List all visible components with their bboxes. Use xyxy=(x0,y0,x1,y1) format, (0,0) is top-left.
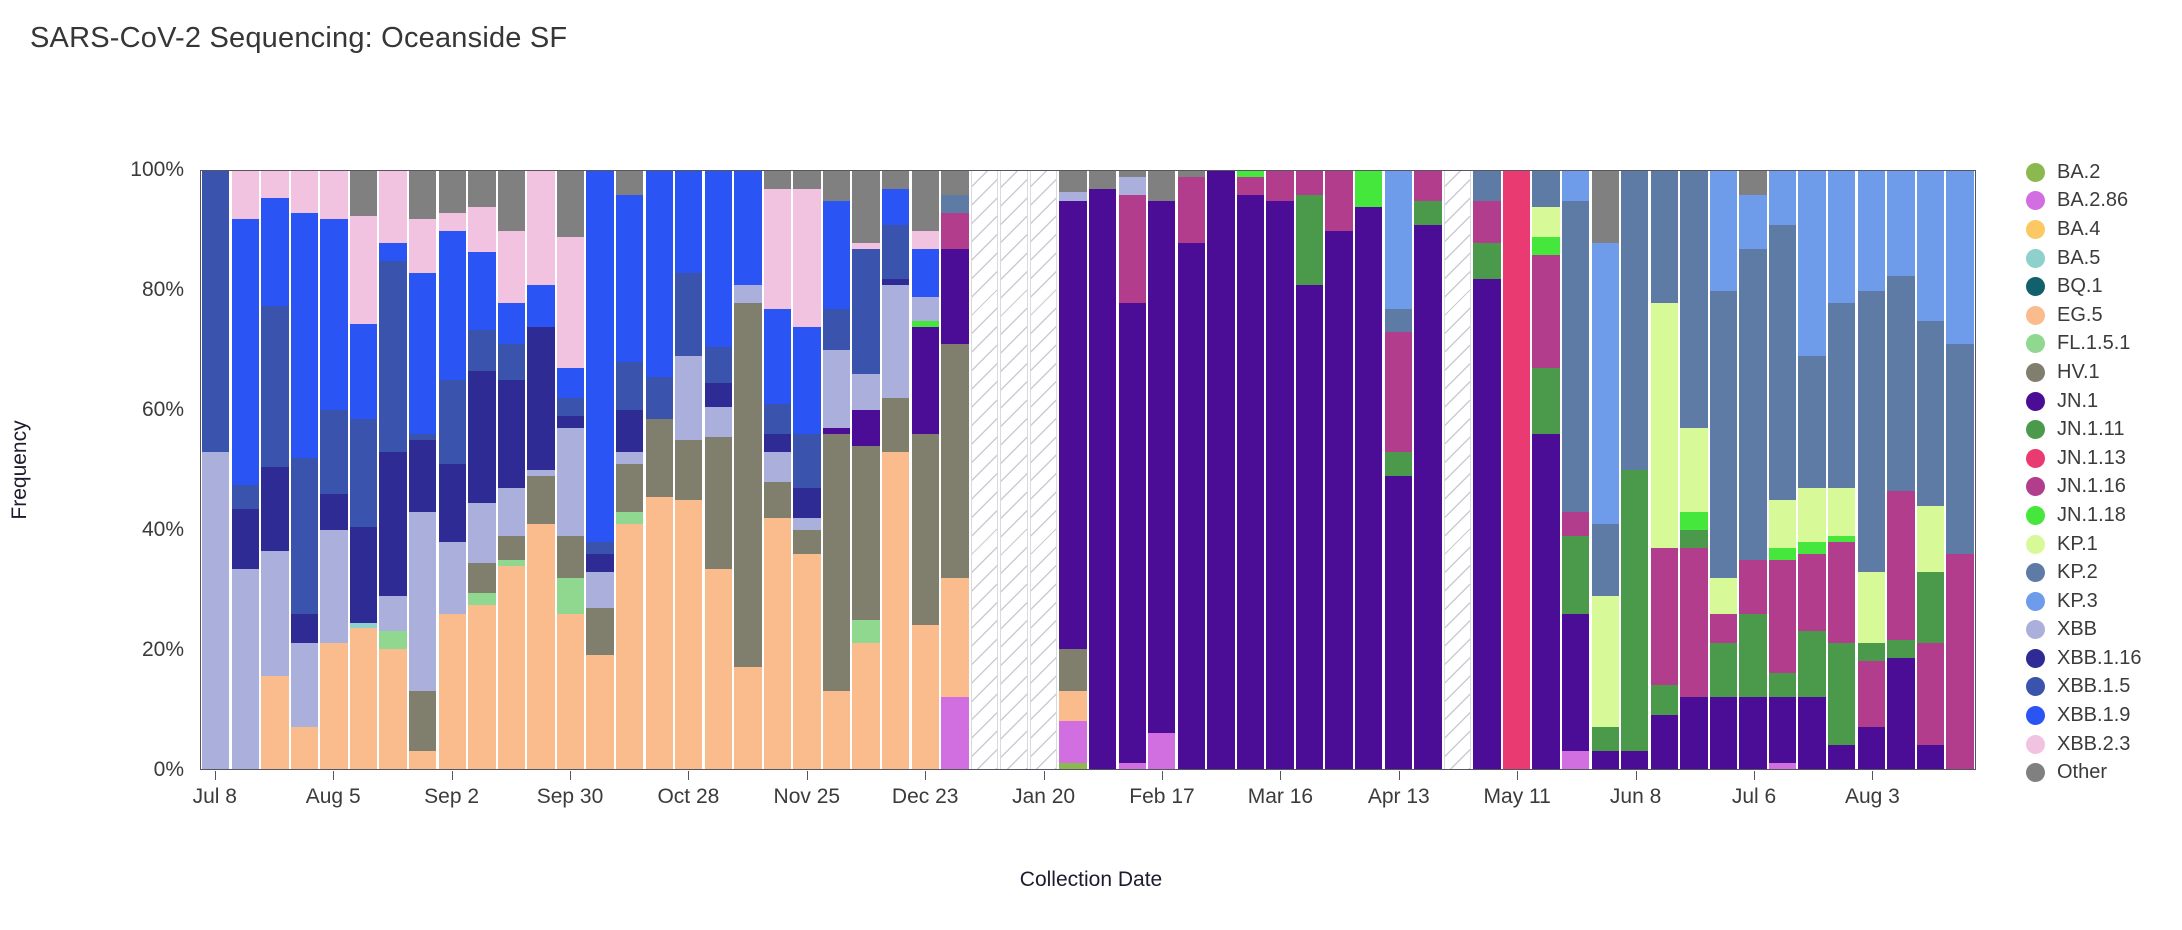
bar-segment-kp-2 xyxy=(1651,171,1678,303)
bar-segment-xbb-1-9 xyxy=(320,219,347,410)
bar-segment-kp-2 xyxy=(1680,171,1707,428)
bar-segment-kp-2 xyxy=(1532,171,1559,207)
bar-jun-22[interactable] xyxy=(1680,171,1707,769)
bar-segment-xbb-1-16 xyxy=(793,488,820,518)
legend-item-jn-1[interactable]: JN.1 xyxy=(2026,387,2182,416)
bar-segment-kp-1 xyxy=(1858,572,1885,644)
bar-segment-kp-2 xyxy=(1769,225,1796,500)
legend-item-xbb[interactable]: XBB xyxy=(2026,616,2182,645)
bar-segment-other xyxy=(764,171,791,189)
bar-segment-xbb-1-9 xyxy=(409,273,436,434)
bar-segment-other xyxy=(409,171,436,219)
bar-segment-xbb-1-5 xyxy=(705,347,732,383)
bar-segment-kp-3 xyxy=(1858,171,1885,291)
bar-feb-10[interactable] xyxy=(1119,171,1146,769)
bar-segment-xbb-1-5 xyxy=(882,225,909,279)
bar-apr-20[interactable] xyxy=(1414,171,1441,769)
missing-data-hatch xyxy=(1444,171,1471,769)
bar-segment-eg-5 xyxy=(912,625,939,769)
bar-segment-hv-1 xyxy=(882,398,909,452)
bar-segment-eg-5 xyxy=(409,751,436,769)
bar-segment-xbb xyxy=(734,285,761,303)
bar-segment-jn-1-16 xyxy=(1473,201,1500,243)
bar-segment-xbb-2-3 xyxy=(261,171,288,198)
bar-may-4[interactable] xyxy=(1473,171,1500,769)
x-tick-mark xyxy=(807,771,808,780)
bar-aug-17[interactable] xyxy=(1917,171,1944,769)
bar-sep-9[interactable] xyxy=(468,171,495,769)
bar-segment-xbb xyxy=(291,643,318,727)
bar-segment-kp-2 xyxy=(1828,303,1855,488)
bar-segment-xbb-1-16 xyxy=(557,416,584,428)
bar-segment-xbb-2-3 xyxy=(291,171,318,213)
bar-segment-eg-5 xyxy=(586,655,613,769)
bar-segment-jn-1 xyxy=(1798,697,1825,769)
bar-segment-jn-1-16 xyxy=(1178,177,1205,243)
bar-sep-23[interactable] xyxy=(527,171,554,769)
bar-segment-jn-1 xyxy=(1119,303,1146,763)
bar-apr-6[interactable] xyxy=(1355,171,1382,769)
bar-segment-kp-1 xyxy=(1592,596,1619,728)
x-tick-mark xyxy=(1872,771,1873,780)
bar-segment-jn-1 xyxy=(1651,715,1678,769)
bar-segment-hv-1 xyxy=(705,437,732,569)
bar-segment-ba-2 xyxy=(1059,763,1086,769)
bar-segment-kp-3 xyxy=(1385,171,1412,309)
bar-segment-xbb-1-5 xyxy=(646,377,673,419)
bar-segment-jn-1 xyxy=(1887,658,1914,769)
x-tick-label: Feb 17 xyxy=(1129,785,1194,809)
bar-segment-other xyxy=(1148,171,1175,201)
bar-segment-kp-2 xyxy=(1385,309,1412,333)
bar-segment-hv-1 xyxy=(468,563,495,593)
bar-jan-20[interactable] xyxy=(1030,171,1057,769)
legend-swatch-icon xyxy=(2026,277,2045,296)
bar-segment-xbb-1-9 xyxy=(823,201,850,309)
legend-swatch-icon xyxy=(2026,363,2045,382)
x-axis: Jul 8Aug 5Sep 2Sep 30Oct 28Nov 25Dec 23J… xyxy=(200,771,1976,831)
bar-dec-30[interactable] xyxy=(941,171,968,769)
bar-jun-1[interactable] xyxy=(1592,171,1619,769)
bar-segment-xbb xyxy=(705,407,732,437)
bar-segment-hv-1 xyxy=(586,608,613,656)
bar-segment-fl-1-5-1 xyxy=(557,578,584,614)
bar-segment-jn-1-16 xyxy=(1917,643,1944,745)
bar-59[interactable] xyxy=(1946,171,1973,769)
x-tick-label: May 11 xyxy=(1484,785,1551,809)
x-tick-label: Nov 25 xyxy=(774,785,841,809)
bar-segment-xbb-1-16 xyxy=(616,410,643,452)
legend-item-kp-1[interactable]: KP.1 xyxy=(2026,530,2182,559)
bar-apr-27[interactable] xyxy=(1444,171,1471,769)
legend-item-label: XBB.2.3 xyxy=(2057,733,2130,756)
legend-swatch-icon xyxy=(2026,420,2045,439)
legend-item-label: JN.1.11 xyxy=(2057,418,2124,441)
legend-swatch-icon xyxy=(2026,706,2045,725)
bar-segment-jn-1-11 xyxy=(1592,727,1619,751)
bar-segment-xbb-1-16 xyxy=(498,380,525,488)
y-tick-label: 20% xyxy=(142,638,184,662)
bar-feb-3[interactable] xyxy=(1089,171,1116,769)
bar-segment-xbb-1-9 xyxy=(379,243,406,261)
bar-segment-xbb-2-3 xyxy=(912,231,939,249)
bar-segment-xbb-2-3 xyxy=(764,189,791,309)
bar-segment-jn-1-11 xyxy=(1296,195,1323,285)
bar-jul-6[interactable] xyxy=(1739,171,1766,769)
bar-oct-21[interactable] xyxy=(646,171,673,769)
legend-item-xbb-1-5[interactable]: XBB.1.5 xyxy=(2026,673,2182,702)
legend-item-label: KP.2 xyxy=(2057,561,2098,584)
bar-may-25[interactable] xyxy=(1562,171,1589,769)
bar-segment-hv-1 xyxy=(646,419,673,497)
x-tick-mark xyxy=(1162,771,1163,780)
y-axis-title: Frequency xyxy=(8,420,32,519)
x-tick-mark xyxy=(215,771,216,780)
bar-jul-15[interactable] xyxy=(232,171,259,769)
x-tick-label: Jan 20 xyxy=(1012,785,1075,809)
bar-feb-17[interactable] xyxy=(1148,171,1175,769)
bar-segment-jn-1 xyxy=(1207,171,1234,769)
legend-item-label: XBB.1.16 xyxy=(2057,647,2142,670)
bar-segment-jn-1-16 xyxy=(1325,171,1352,231)
bar-segment-jn-1-16 xyxy=(1296,171,1323,195)
legend-swatch-icon xyxy=(2026,477,2045,496)
bar-segment-jn-1 xyxy=(852,410,879,446)
bar-aug-5[interactable] xyxy=(320,171,347,769)
bar-segment-kp-1 xyxy=(1680,428,1707,512)
bar-nov-11[interactable] xyxy=(734,171,761,769)
bar-segment-kp-1 xyxy=(1532,207,1559,237)
bar-segment-kp-3 xyxy=(1946,171,1973,344)
bar-segment-xbb-1-9 xyxy=(616,195,643,362)
x-tick-label: Jul 6 xyxy=(1732,785,1776,809)
bar-segment-jn-1-18 xyxy=(1355,171,1382,207)
legend-item-label: JN.1.18 xyxy=(2057,504,2126,527)
bar-segment-jn-1 xyxy=(1385,476,1412,769)
bar-aug-26[interactable] xyxy=(409,171,436,769)
bar-segment-kp-3 xyxy=(1769,171,1796,225)
bar-segment-xbb-1-9 xyxy=(498,303,525,345)
bar-aug-3[interactable] xyxy=(1858,171,1885,769)
bar-segment-other xyxy=(1089,171,1116,189)
bar-oct-7[interactable] xyxy=(586,171,613,769)
bar-segment-xbb-1-9 xyxy=(793,327,820,435)
legend-item-bq-1[interactable]: BQ.1 xyxy=(2026,272,2182,301)
bar-segment-other xyxy=(1592,171,1619,243)
bar-dec-2[interactable] xyxy=(823,171,850,769)
x-tick-mark xyxy=(925,771,926,780)
bar-segment-hv-1 xyxy=(941,344,968,577)
bar-segment-jn-1-11 xyxy=(1385,452,1412,476)
legend-item-eg-5[interactable]: EG.5 xyxy=(2026,301,2182,330)
legend-swatch-icon xyxy=(2026,220,2045,239)
bar-segment-fl-1-5-1 xyxy=(379,631,406,649)
bar-feb-24[interactable] xyxy=(1178,171,1205,769)
bar-segment-ba-2-86 xyxy=(1119,763,1146,769)
bar-mar-2[interactable] xyxy=(1207,171,1234,769)
bar-segment-xbb xyxy=(202,452,229,769)
bar-segment-jn-1 xyxy=(1739,697,1766,769)
bar-segment-xbb-1-5 xyxy=(764,404,791,434)
bar-segment-xbb xyxy=(498,488,525,536)
legend-swatch-icon xyxy=(2026,677,2045,696)
bar-segment-jn-1 xyxy=(1680,697,1707,769)
legend-item-jn-1-13[interactable]: JN.1.13 xyxy=(2026,444,2182,473)
x-tick-label: Apr 13 xyxy=(1368,785,1430,809)
y-tick-label: 80% xyxy=(142,278,184,302)
bar-segment-xbb-1-9 xyxy=(261,198,288,306)
legend-item-xbb-2-3[interactable]: XBB.2.3 xyxy=(2026,730,2182,759)
bar-segment-eg-5 xyxy=(527,524,554,769)
bar-segment-xbb-1-16 xyxy=(291,614,318,644)
bar-segment-hv-1 xyxy=(527,476,554,524)
bar-mar-9[interactable] xyxy=(1237,171,1264,769)
bar-segment-jn-1 xyxy=(1148,201,1175,733)
bar-segment-kp-3 xyxy=(1828,171,1855,303)
bar-mar-16[interactable] xyxy=(1266,171,1293,769)
bar-segment-xbb xyxy=(557,428,584,536)
legend-swatch-icon xyxy=(2026,392,2045,411)
bar-jul-13[interactable] xyxy=(1769,171,1796,769)
bar-segment-xbb-1-16 xyxy=(350,527,377,623)
bar-segment-eg-5 xyxy=(468,605,495,769)
bar-segment-xbb-1-5 xyxy=(232,485,259,509)
legend-item-label: BA.2 xyxy=(2057,161,2100,184)
bar-segment-hv-1 xyxy=(793,530,820,554)
bar-nov-18[interactable] xyxy=(764,171,791,769)
bar-segment-kp-2 xyxy=(1946,344,1973,553)
bar-segment-jn-1-11 xyxy=(1769,673,1796,697)
legend-item-label: JN.1 xyxy=(2057,390,2098,413)
bar-segment-xbb-1-9 xyxy=(734,171,761,285)
bar-segment-ba-2-86 xyxy=(1148,733,1175,769)
bar-segment-jn-1 xyxy=(1473,279,1500,769)
bar-segment-xbb-1-16 xyxy=(586,554,613,572)
bar-oct-28[interactable] xyxy=(675,171,702,769)
bar-segment-kp-2 xyxy=(1887,276,1914,491)
bar-segment-jn-1-18 xyxy=(1798,542,1825,554)
bar-jun-29[interactable] xyxy=(1710,171,1737,769)
legend-item-label: JN.1.13 xyxy=(2057,447,2126,470)
legend-item-label: BA.4 xyxy=(2057,218,2100,241)
bar-jul-29[interactable] xyxy=(291,171,318,769)
bar-segment-jn-1-16 xyxy=(1680,548,1707,698)
legend-swatch-icon xyxy=(2026,763,2045,782)
bar-segment-jn-1-16 xyxy=(941,213,968,249)
bar-segment-hv-1 xyxy=(675,440,702,500)
bar-segment-xbb xyxy=(764,452,791,482)
bar-segment-jn-1-16 xyxy=(1858,661,1885,727)
bar-may-11[interactable] xyxy=(1503,171,1530,769)
legend-swatch-icon xyxy=(2026,620,2045,639)
bar-segment-xbb-1-5 xyxy=(379,261,406,452)
bar-mar-30[interactable] xyxy=(1325,171,1352,769)
legend-swatch-icon xyxy=(2026,334,2045,353)
bar-jan-6[interactable] xyxy=(971,171,998,769)
bar-segment-kp-2 xyxy=(1562,201,1589,512)
bar-segment-xbb-1-5 xyxy=(793,434,820,488)
bar-segment-kp-2 xyxy=(1739,249,1766,560)
bar-jun-8[interactable] xyxy=(1621,171,1648,769)
bar-jan-13[interactable] xyxy=(1000,171,1027,769)
legend-item-ba-4[interactable]: BA.4 xyxy=(2026,215,2182,244)
legend-item-fl-1-5-1[interactable]: FL.1.5.1 xyxy=(2026,330,2182,359)
bar-segment-jn-1-11 xyxy=(1680,530,1707,548)
bar-segment-xbb-1-5 xyxy=(350,419,377,527)
bar-segment-other xyxy=(498,171,525,231)
bar-segment-xbb-1-9 xyxy=(350,324,377,420)
bar-segment-kp-3 xyxy=(1887,171,1914,276)
bar-segment-xbb-2-3 xyxy=(232,171,259,219)
bar-segment-xbb xyxy=(823,350,850,428)
bar-segment-jn-1 xyxy=(1532,434,1559,769)
bar-aug-10[interactable] xyxy=(1887,171,1914,769)
bar-segment-kp-3 xyxy=(1917,171,1944,321)
bar-jul-20[interactable] xyxy=(1798,171,1825,769)
legend-item-ba-5[interactable]: BA.5 xyxy=(2026,244,2182,273)
legend-item-ba-2[interactable]: BA.2 xyxy=(2026,158,2182,187)
bar-segment-jn-1-16 xyxy=(1266,171,1293,201)
bar-segment-xbb xyxy=(439,542,466,614)
x-tick-mark xyxy=(333,771,334,780)
bar-segment-eg-5 xyxy=(646,497,673,769)
legend-item-jn-1-18[interactable]: JN.1.18 xyxy=(2026,501,2182,530)
bar-segment-xbb xyxy=(882,285,909,399)
x-tick-label: Dec 23 xyxy=(892,785,959,809)
bar-jul-22[interactable] xyxy=(261,171,288,769)
x-tick-label: Jul 8 xyxy=(193,785,237,809)
bar-segment-hv-1 xyxy=(409,691,436,751)
bar-segment-hv-1 xyxy=(823,434,850,691)
bar-segment-xbb-2-3 xyxy=(439,213,466,231)
bar-segment-kp-1 xyxy=(1710,578,1737,614)
bar-segment-xbb-2-3 xyxy=(557,237,584,369)
bar-segment-jn-1 xyxy=(941,249,968,345)
bar-nov-4[interactable] xyxy=(705,171,732,769)
bar-segment-xbb-1-5 xyxy=(675,273,702,357)
bar-segment-hv-1 xyxy=(734,303,761,668)
bar-segment-kp-3 xyxy=(1739,195,1766,249)
bar-segment-xbb-2-3 xyxy=(409,219,436,273)
bar-segment-jn-1 xyxy=(1059,201,1086,650)
bar-segment-xbb-1-5 xyxy=(586,542,613,554)
y-tick-label: 60% xyxy=(142,398,184,422)
bar-sep-16[interactable] xyxy=(498,171,525,769)
bar-segment-xbb-1-16 xyxy=(764,434,791,452)
bar-segment-jn-1-16 xyxy=(1651,548,1678,686)
bar-segment-other xyxy=(350,171,377,216)
bar-jan-27[interactable] xyxy=(1059,171,1086,769)
bar-segment-jn-1 xyxy=(1266,201,1293,769)
bar-segment-jn-1-11 xyxy=(1858,643,1885,661)
legend-item-ba-2-86[interactable]: BA.2.86 xyxy=(2026,187,2182,216)
bar-segment-xbb xyxy=(852,374,879,410)
legend-item-kp-2[interactable]: KP.2 xyxy=(2026,558,2182,587)
bar-segment-eg-5 xyxy=(793,554,820,769)
bar-segment-xbb-1-5 xyxy=(498,344,525,380)
bar-segment-eg-5 xyxy=(675,500,702,769)
bar-segment-jn-1-16 xyxy=(1385,332,1412,452)
bar-dec-16[interactable] xyxy=(882,171,909,769)
bar-nov-25[interactable] xyxy=(793,171,820,769)
legend-item-other[interactable]: Other xyxy=(2026,758,2182,787)
bar-jul-27[interactable] xyxy=(1828,171,1855,769)
bar-may-18[interactable] xyxy=(1532,171,1559,769)
x-tick-label: Jun 8 xyxy=(1610,785,1661,809)
bar-segment-jn-1-11 xyxy=(1414,201,1441,225)
bar-segment-jn-1-16 xyxy=(1946,554,1973,769)
legend-swatch-icon xyxy=(2026,163,2045,182)
legend-swatch-icon xyxy=(2026,449,2045,468)
bar-jun-15[interactable] xyxy=(1651,171,1678,769)
bar-aug-19[interactable] xyxy=(379,171,406,769)
bar-segment-xbb-2-3 xyxy=(350,216,377,324)
bar-segment-jn-1-11 xyxy=(1739,614,1766,698)
legend-item-label: FL.1.5.1 xyxy=(2057,332,2130,355)
legend-item-label: XBB xyxy=(2057,618,2097,641)
bar-segment-xbb xyxy=(1059,192,1086,201)
bar-segment-other xyxy=(912,171,939,231)
bar-segment-ba-2-86 xyxy=(1769,763,1796,769)
x-tick-mark xyxy=(1636,771,1637,780)
bar-segment-eg-5 xyxy=(941,578,968,698)
bar-segment-xbb-1-16 xyxy=(439,464,466,542)
bar-segment-jn-1-11 xyxy=(1532,368,1559,434)
legend-item-xbb-1-16[interactable]: XBB.1.16 xyxy=(2026,644,2182,673)
legend-item-xbb-1-9[interactable]: XBB.1.9 xyxy=(2026,701,2182,730)
bar-segment-xbb-1-5 xyxy=(823,309,850,351)
legend-item-jn-1-11[interactable]: JN.1.11 xyxy=(2026,415,2182,444)
bar-aug-12[interactable] xyxy=(350,171,377,769)
bar-segment-xbb-1-5 xyxy=(291,458,318,613)
bar-dec-9[interactable] xyxy=(852,171,879,769)
bar-segment-xbb-1-16 xyxy=(705,383,732,407)
bar-segment-jn-1 xyxy=(1828,745,1855,769)
legend-item-kp-3[interactable]: KP.3 xyxy=(2026,587,2182,616)
bar-segment-jn-1 xyxy=(1296,285,1323,769)
bar-segment-jn-1-11 xyxy=(1828,643,1855,745)
bar-segment-other xyxy=(882,171,909,189)
bar-segment-xbb-1-5 xyxy=(616,362,643,410)
bar-sep-2[interactable] xyxy=(439,171,466,769)
bar-segment-hv-1 xyxy=(912,434,939,625)
bar-jul-8[interactable] xyxy=(202,171,229,769)
chart-root: SARS-CoV-2 Sequencing: Oceanside SF Freq… xyxy=(0,0,2182,930)
bar-segment-jn-1-18 xyxy=(1680,512,1707,530)
bar-oct-14[interactable] xyxy=(616,171,643,769)
bar-segment-jn-1-11 xyxy=(1917,572,1944,644)
bar-segment-jn-1-11 xyxy=(1473,243,1500,279)
bar-segment-kp-2 xyxy=(1710,291,1737,578)
bar-segment-xbb-1-5 xyxy=(439,380,466,464)
legend-item-jn-1-16[interactable]: JN.1.16 xyxy=(2026,473,2182,502)
legend-item-label: EG.5 xyxy=(2057,304,2103,327)
bar-segment-xbb-1-9 xyxy=(675,171,702,273)
bar-mar-23[interactable] xyxy=(1296,171,1323,769)
legend-item-hv-1[interactable]: HV.1 xyxy=(2026,358,2182,387)
legend-item-label: BA.2.86 xyxy=(2057,189,2128,212)
bar-segment-jn-1-16 xyxy=(1828,542,1855,644)
bar-segment-jn-1 xyxy=(1917,745,1944,769)
bar-segment-kp-2 xyxy=(1917,321,1944,506)
bar-segment-jn-1 xyxy=(1562,614,1589,752)
bar-apr-13[interactable] xyxy=(1385,171,1412,769)
bar-dec-23[interactable] xyxy=(912,171,939,769)
plot-wrapper xyxy=(200,170,1976,770)
bar-sep-30[interactable] xyxy=(557,171,584,769)
bar-segment-xbb-2-3 xyxy=(320,171,347,219)
bar-segment-hv-1 xyxy=(557,536,584,578)
